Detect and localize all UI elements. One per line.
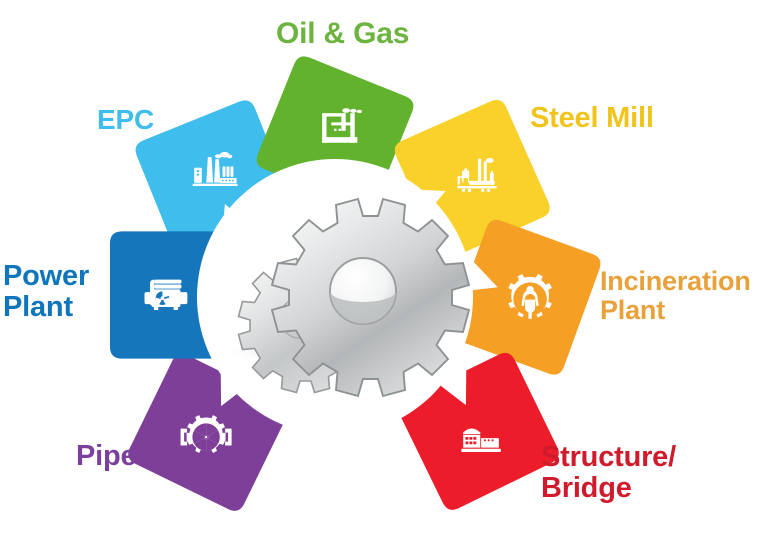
label-power-plant: Power Plant	[3, 261, 89, 322]
infographic-canvas: Oil & Gas Steel Mill Incineration Plant …	[0, 0, 774, 541]
label-epc: EPC	[97, 105, 154, 135]
large-gear-icon	[272, 199, 469, 396]
label-steel-mill: Steel Mill	[530, 103, 654, 134]
label-pipe: Pipe	[76, 441, 136, 472]
label-structure-bridge: Structure/ Bridge	[541, 442, 676, 503]
label-oil-gas: Oil & Gas	[276, 18, 409, 50]
label-incineration-plant: Incineration Plant	[600, 267, 751, 324]
